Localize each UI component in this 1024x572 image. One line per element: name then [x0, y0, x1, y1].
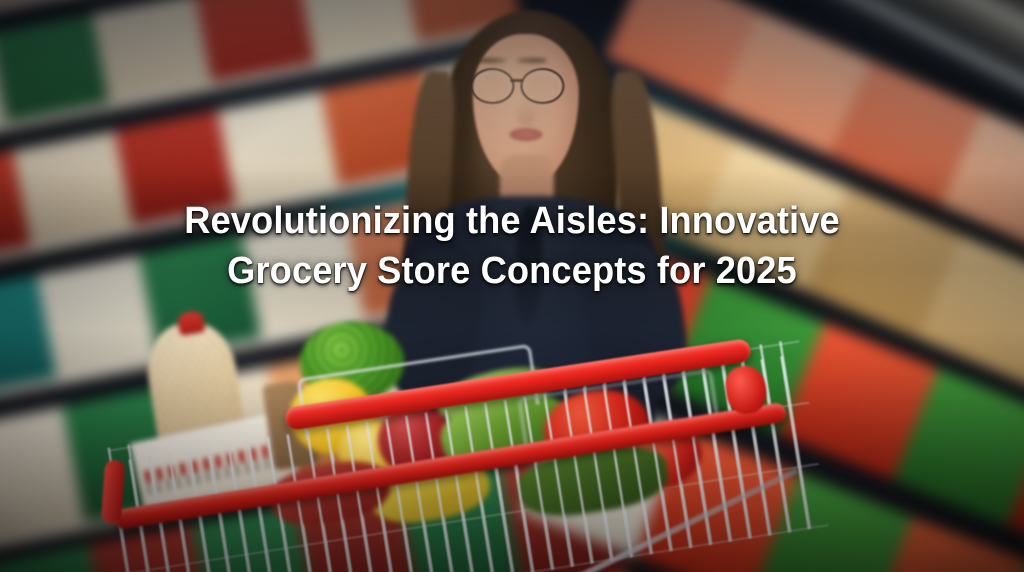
banner-title: Revolutionizing the Aisles: Innovative G… [0, 196, 1024, 296]
mesh-bag-cap [176, 310, 205, 336]
hero-banner: Revolutionizing the Aisles: Innovative G… [0, 0, 1024, 572]
title-line-1: Revolutionizing the Aisles: Innovative [80, 196, 943, 246]
title-line-2: Grocery Store Concepts for 2025 [80, 246, 943, 296]
shopping-cart [0, 322, 1024, 572]
